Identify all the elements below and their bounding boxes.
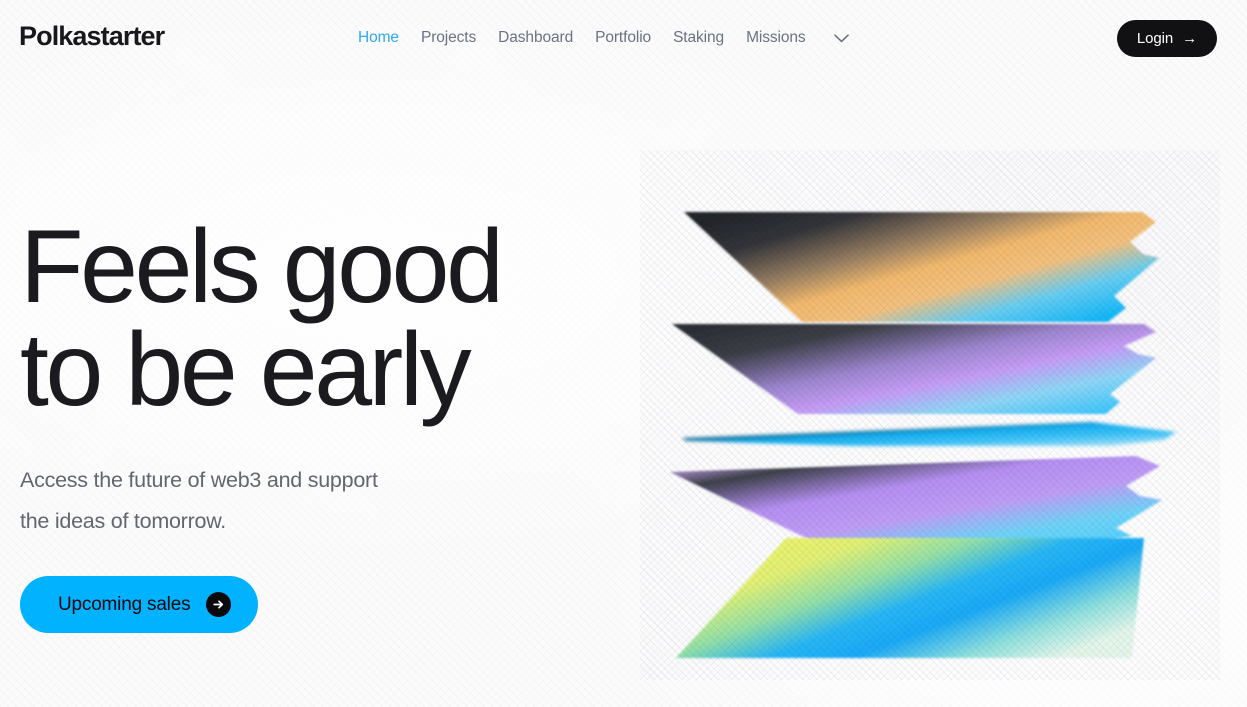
nav-item-projects[interactable]: Projects xyxy=(410,27,487,49)
login-button[interactable]: Login → xyxy=(1117,20,1217,57)
art-layer-2 xyxy=(672,324,1156,414)
login-button-label: Login xyxy=(1137,31,1173,46)
arrow-right-circle-icon xyxy=(206,592,231,617)
upcoming-sales-label: Upcoming sales xyxy=(58,595,190,614)
art-layer-1 xyxy=(684,212,1159,322)
art-layer-3 xyxy=(682,422,1176,446)
nav-item-missions[interactable]: Missions xyxy=(735,27,817,49)
brand-logo[interactable]: Polkastarter xyxy=(19,23,164,50)
hero-artwork xyxy=(640,150,1220,680)
upcoming-sales-button[interactable]: Upcoming sales xyxy=(20,576,258,633)
nav-item-dashboard[interactable]: Dashboard xyxy=(487,27,584,49)
hero-subtitle: Access the future of web3 and support th… xyxy=(20,460,640,543)
site-header: Polkastarter Home Projects Dashboard Por… xyxy=(0,0,1247,76)
nav-item-portfolio[interactable]: Portfolio xyxy=(584,27,662,49)
art-layer-5 xyxy=(676,538,1144,658)
nav-item-home[interactable]: Home xyxy=(347,27,410,49)
hero-section: Feels good to be early Access the future… xyxy=(20,216,640,633)
main-nav: Home Projects Dashboard Portfolio Stakin… xyxy=(347,27,855,49)
nav-item-staking[interactable]: Staking xyxy=(662,27,735,49)
chevron-down-icon[interactable] xyxy=(829,27,855,49)
arrow-right-icon: → xyxy=(1182,31,1197,46)
art-layer-4 xyxy=(670,456,1162,540)
hero-title: Feels good to be early xyxy=(20,216,640,422)
